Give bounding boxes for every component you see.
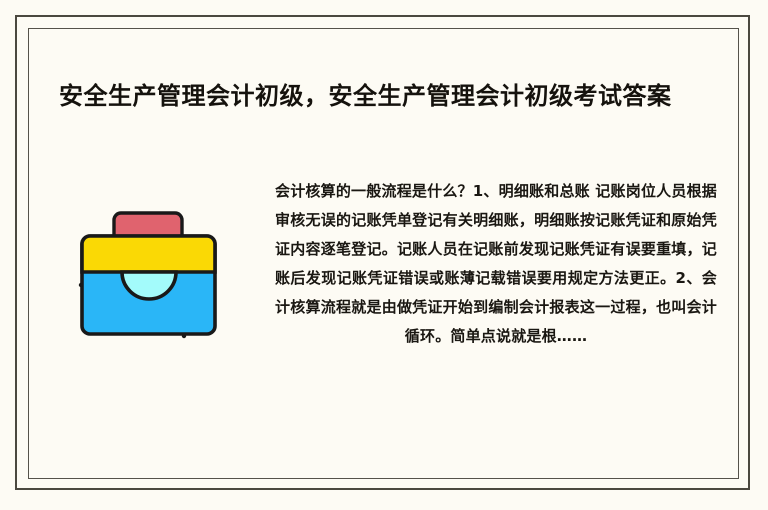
briefcase-accent-dot-left	[78, 283, 82, 287]
article-body-text: 会计核算的一般流程是什么？1、明细账和总账 记账岗位人员根据审核无误的记账凭单登…	[275, 177, 717, 351]
briefcase-accent-dot-bottom	[181, 334, 185, 338]
poster-content-row: 会计核算的一般流程是什么？1、明细账和总账 记账岗位人员根据审核无误的记账凭单登…	[30, 177, 735, 458]
briefcase-icon	[78, 209, 228, 349]
page-title: 安全生产管理会计初级，安全生产管理会计初级考试答案	[59, 79, 719, 113]
illustration-pane	[30, 177, 275, 349]
briefcase-band	[82, 236, 215, 272]
poster-card: 安全生产管理会计初级，安全生产管理会计初级考试答案 会计核算的一般流程是什么？1…	[15, 15, 750, 490]
article-pane: 会计核算的一般流程是什么？1、明细账和总账 记账岗位人员根据审核无误的记账凭单登…	[275, 177, 735, 351]
